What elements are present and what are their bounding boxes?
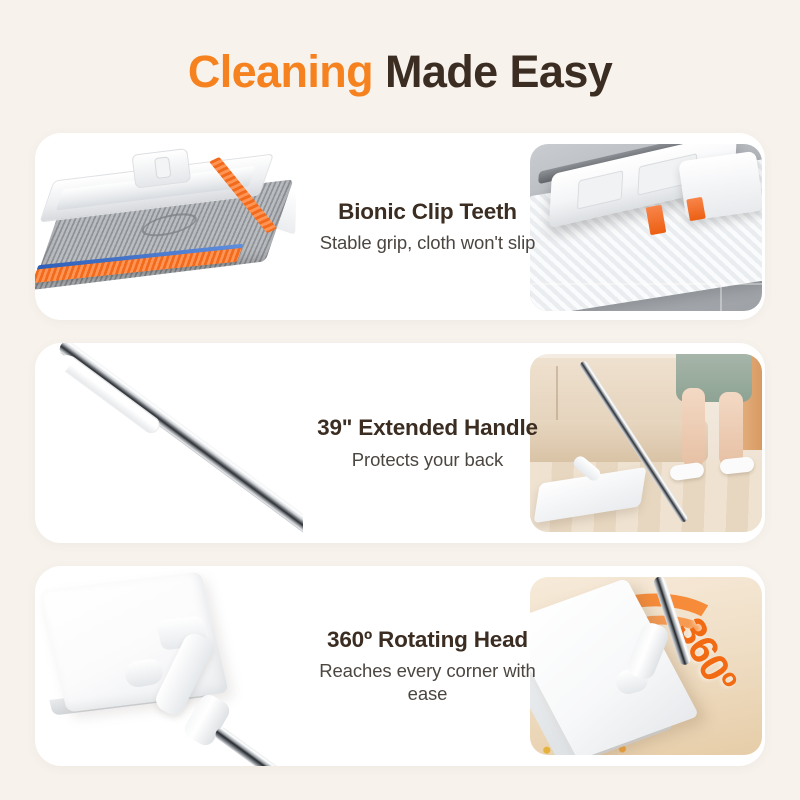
page-title: Cleaning Made Easy: [0, 48, 800, 95]
person-leg: [719, 392, 743, 466]
feature-photo-mopping-room: [530, 354, 762, 532]
mop-plate-illustration: [35, 134, 303, 320]
sofa-seam: [556, 366, 558, 426]
feature-heading: 360º Rotating Head: [327, 626, 528, 653]
pole-white-grip: [58, 353, 163, 437]
plate-swivel-neck: [131, 148, 191, 189]
product-image-swivel-head: [35, 566, 303, 766]
tile-grout-line: [720, 279, 722, 311]
feature-heading: 39" Extended Handle: [317, 414, 538, 441]
feature-card-extended-handle: 39" Extended Handle Protects your back: [35, 343, 765, 543]
feature-text-block: 360º Rotating Head Reaches every corner …: [300, 566, 555, 766]
person-leg: [682, 388, 705, 466]
feature-subtext: Reaches every corner with ease: [300, 660, 555, 706]
feature-subtext: Protects your back: [352, 449, 503, 472]
feature-photo-360-rotation: 360º: [530, 577, 762, 755]
product-feature-infographic: Cleaning Made Easy Bionic Clip Teeth Sta…: [0, 0, 800, 800]
feature-photo-clip-grip: [530, 144, 762, 311]
product-image-mop-plate: [35, 133, 303, 320]
photo-scene: [530, 144, 762, 311]
feature-heading: Bionic Clip Teeth: [338, 198, 517, 225]
photo-scene: 360º: [530, 577, 762, 755]
feature-card-rotating-head: 360º Rotating Head Reaches every corner …: [35, 566, 765, 766]
feature-text-block: Bionic Clip Teeth Stable grip, cloth won…: [300, 133, 555, 320]
telescopic-pole-illustration: [71, 349, 303, 543]
tile-grout-line: [530, 283, 762, 285]
feature-subtext: Stable grip, cloth won't slip: [320, 232, 536, 255]
product-image-extended-pole: [35, 343, 303, 543]
page-title-rest: Made Easy: [373, 46, 612, 97]
photo-scene: [530, 354, 762, 532]
pole-shaft: [213, 725, 293, 766]
swivel-head-illustration: [41, 574, 303, 764]
feature-card-bionic-clip-teeth: Bionic Clip Teeth Stable grip, cloth won…: [35, 133, 765, 320]
page-title-accent: Cleaning: [188, 46, 373, 97]
feature-text-block: 39" Extended Handle Protects your back: [300, 343, 555, 543]
